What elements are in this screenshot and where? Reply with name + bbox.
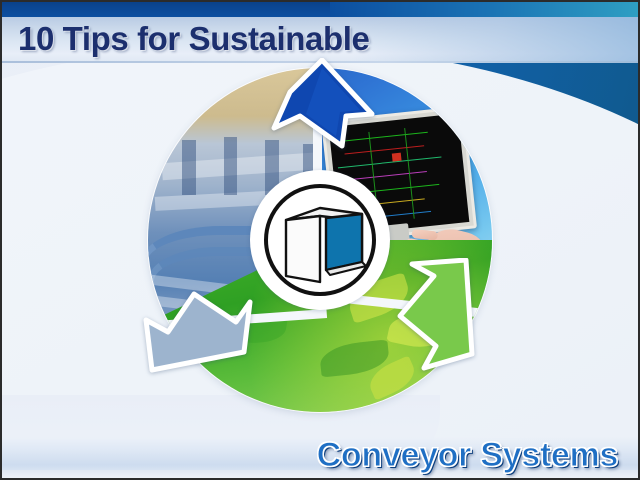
slide-subtitle: Conveyor Systems [317,436,618,475]
recycle-arrow-top [260,58,380,150]
sustainability-cycle-graphic [148,68,492,412]
page-title: 10 Tips for Sustainable [18,20,369,58]
header-dark-band-right [330,0,640,17]
center-logo [250,170,390,310]
recycle-arrow-bottom-left [140,278,260,388]
logo-folded-panel-icon [274,196,368,286]
presentation-slide: 10 Tips for Sustainable [0,0,640,480]
